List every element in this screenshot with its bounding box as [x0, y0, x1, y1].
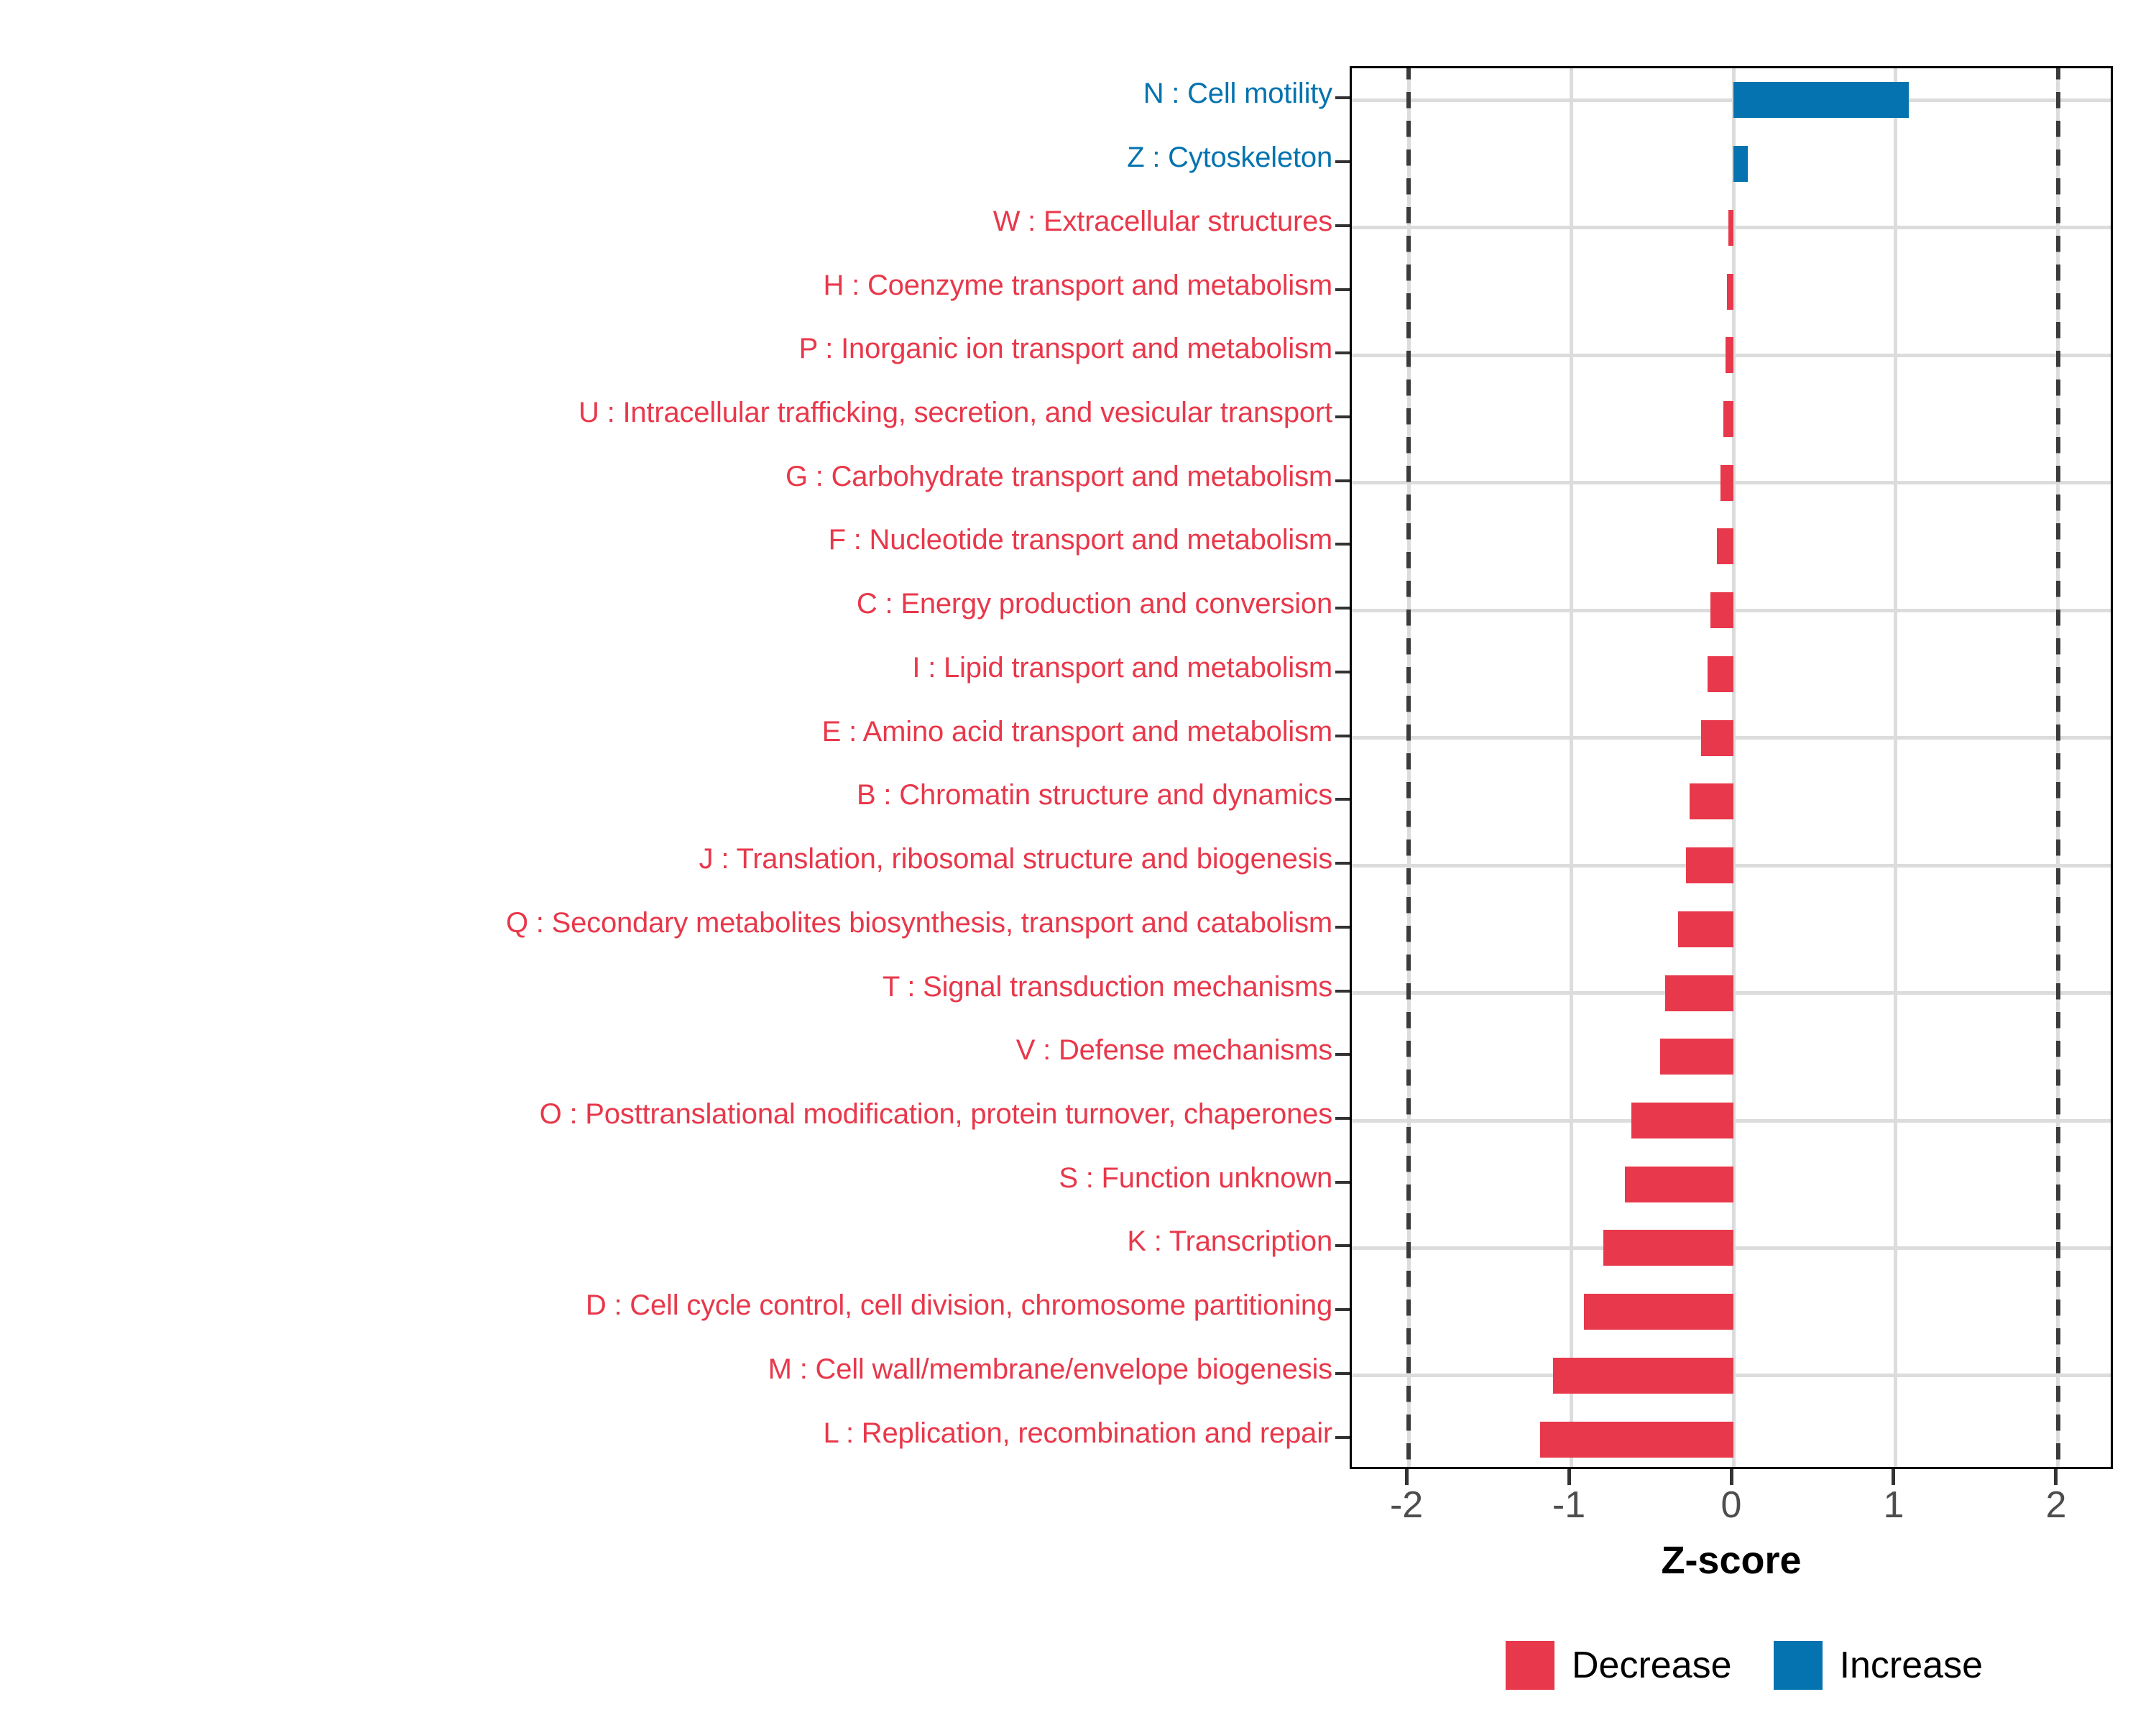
bar: [1603, 1230, 1733, 1266]
y-axis-label-text: G : Carbohydrate transport and metabolis…: [786, 462, 1341, 491]
y-axis-tick: [1335, 224, 1350, 227]
y-axis-label: V : Defense mechanisms: [0, 1036, 1341, 1064]
y-axis-tick: [1335, 96, 1350, 99]
x-axis-tick-label: 1: [1851, 1486, 1937, 1524]
y-axis-label: S : Function unknown: [0, 1164, 1341, 1192]
y-axis-tick: [1335, 543, 1350, 546]
y-axis-label-text: P : Inorganic ion transport and metaboli…: [799, 334, 1341, 363]
bar: [1660, 1039, 1733, 1075]
bar: [1690, 783, 1733, 819]
legend-label: Increase: [1823, 1647, 2024, 1684]
y-axis-label-text: O : Posttranslational modification, prot…: [540, 1100, 1341, 1128]
y-axis-tick: [1335, 671, 1350, 673]
y-axis-label-text: B : Chromatin structure and dynamics: [857, 781, 1341, 809]
y-axis-tick: [1335, 735, 1350, 737]
x-axis-tick: [2054, 1469, 2058, 1485]
x-axis-tick-label: -1: [1526, 1486, 1612, 1524]
y-axis-tick: [1335, 607, 1350, 609]
x-axis-tick: [1405, 1469, 1409, 1485]
bar: [1701, 720, 1733, 756]
y-axis-label-text: U : Intracellular trafficking, secretion…: [579, 398, 1341, 427]
bar: [1726, 337, 1733, 373]
y-axis-tick: [1335, 415, 1350, 418]
y-axis-tick: [1335, 160, 1350, 163]
y-axis-label: M : Cell wall/membrane/envelope biogenes…: [0, 1355, 1341, 1384]
bar: [1686, 847, 1733, 883]
y-axis-label: D : Cell cycle control, cell division, c…: [0, 1291, 1341, 1320]
bar: [1708, 656, 1733, 692]
y-axis-tick: [1335, 1053, 1350, 1056]
y-axis-label: O : Posttranslational modification, prot…: [0, 1100, 1341, 1128]
y-axis-label: W : Extracellular structures: [0, 207, 1341, 236]
y-axis-label-text: I : Lipid transport and metabolism: [912, 653, 1341, 682]
bar: [1733, 146, 1748, 182]
y-axis-tick: [1335, 1181, 1350, 1184]
y-axis-label: J : Translation, ribosomal structure and…: [0, 845, 1341, 873]
bar: [1553, 1358, 1733, 1394]
x-axis-tick: [1892, 1469, 1895, 1485]
legend-swatch-icon: [1506, 1641, 1554, 1690]
y-axis-label-text: N : Cell motility: [1143, 79, 1341, 108]
x-axis-title: Z-score: [1350, 1538, 2113, 1583]
legend-label: Decrease: [1554, 1647, 1774, 1684]
y-axis-label: N : Cell motility: [0, 79, 1341, 108]
y-axis-tick: [1335, 926, 1350, 929]
bar: [1710, 592, 1733, 628]
bar: [1625, 1167, 1733, 1202]
y-axis-label-text: D : Cell cycle control, cell division, c…: [586, 1291, 1341, 1320]
y-axis-tick: [1335, 1117, 1350, 1120]
y-axis-label-text: H : Coenzyme transport and metabolism: [824, 271, 1341, 300]
y-axis-label: U : Intracellular trafficking, secretion…: [0, 398, 1341, 427]
threshold-dashed-line: [2056, 68, 2060, 1467]
x-axis-tick-label: -2: [1363, 1486, 1450, 1524]
y-axis-label-text: W : Extracellular structures: [993, 207, 1341, 236]
y-axis-tick: [1335, 1244, 1350, 1247]
y-axis-label: B : Chromatin structure and dynamics: [0, 781, 1341, 809]
y-axis-label-text: F : Nucleotide transport and metabolism: [829, 525, 1341, 554]
y-axis-label-text: V : Defense mechanisms: [1016, 1036, 1341, 1064]
plot-panel: [1350, 66, 2113, 1469]
vertical-gridline: [1570, 68, 1573, 1467]
y-axis-tick: [1335, 288, 1350, 291]
bar: [1727, 274, 1733, 310]
y-axis-tick: [1335, 1308, 1350, 1311]
y-axis-label-text: E : Amino acid transport and metabolism: [822, 717, 1341, 746]
y-axis-tick: [1335, 351, 1350, 354]
y-axis-label-text: C : Energy production and conversion: [857, 589, 1341, 618]
legend-item[interactable]: Decrease: [1506, 1641, 1774, 1690]
y-axis-tick: [1335, 1372, 1350, 1375]
x-axis-tick-label: 2: [2013, 1486, 2099, 1524]
y-axis-label: I : Lipid transport and metabolism: [0, 653, 1341, 682]
plot-inner: [1352, 68, 2111, 1467]
bar: [1728, 210, 1733, 246]
y-axis-label-text: M : Cell wall/membrane/envelope biogenes…: [768, 1355, 1341, 1384]
x-axis-tick-label: 0: [1688, 1486, 1774, 1524]
y-axis-tick: [1335, 479, 1350, 482]
y-axis-category-labels: N : Cell motilityZ : CytoskeletonW : Ext…: [0, 66, 1341, 1469]
y-axis-tick: [1335, 862, 1350, 865]
y-axis-label-text: K : Transcription: [1127, 1227, 1341, 1256]
bar: [1717, 528, 1733, 564]
y-axis-label-text: S : Function unknown: [1059, 1164, 1341, 1192]
y-axis-label: H : Coenzyme transport and metabolism: [0, 271, 1341, 300]
y-axis-label-text: Z : Cytoskeleton: [1127, 143, 1341, 172]
y-axis-label-text: Q : Secondary metabolites biosynthesis, …: [506, 908, 1341, 937]
legend: DecreaseIncrease: [1506, 1633, 2024, 1698]
bar: [1733, 82, 1909, 118]
bar: [1723, 401, 1733, 437]
bar: [1665, 975, 1733, 1011]
y-axis-label: E : Amino acid transport and metabolism: [0, 717, 1341, 746]
x-axis-tick: [1567, 1469, 1571, 1485]
y-axis-tick: [1335, 990, 1350, 993]
y-axis-label-text: T : Signal transduction mechanisms: [883, 972, 1341, 1001]
bar: [1720, 465, 1733, 501]
y-axis-label: F : Nucleotide transport and metabolism: [0, 525, 1341, 554]
bar: [1584, 1294, 1733, 1330]
y-axis-label: C : Energy production and conversion: [0, 589, 1341, 618]
y-axis-label: P : Inorganic ion transport and metaboli…: [0, 334, 1341, 363]
y-axis-label: T : Signal transduction mechanisms: [0, 972, 1341, 1001]
legend-item[interactable]: Increase: [1774, 1641, 2024, 1690]
y-axis-label: G : Carbohydrate transport and metabolis…: [0, 462, 1341, 491]
y-axis-tick: [1335, 798, 1350, 801]
y-axis-label: Q : Secondary metabolites biosynthesis, …: [0, 908, 1341, 937]
y-axis-label: Z : Cytoskeleton: [0, 143, 1341, 172]
vertical-gridline: [1894, 68, 1897, 1467]
y-axis-label-text: J : Translation, ribosomal structure and…: [699, 845, 1341, 873]
y-axis-tick: [1335, 1436, 1350, 1439]
bar: [1631, 1103, 1733, 1138]
bar: [1678, 911, 1733, 947]
y-axis-label: L : Replication, recombination and repai…: [0, 1419, 1341, 1448]
bar: [1540, 1422, 1733, 1458]
y-axis-label: K : Transcription: [0, 1227, 1341, 1256]
x-axis-tick: [1730, 1469, 1733, 1485]
threshold-dashed-line: [1406, 68, 1411, 1467]
y-axis-label-text: L : Replication, recombination and repai…: [824, 1419, 1342, 1448]
cog-zscore-bar-chart: N : Cell motilityZ : CytoskeletonW : Ext…: [0, 0, 2156, 1725]
legend-swatch-icon: [1774, 1641, 1823, 1690]
